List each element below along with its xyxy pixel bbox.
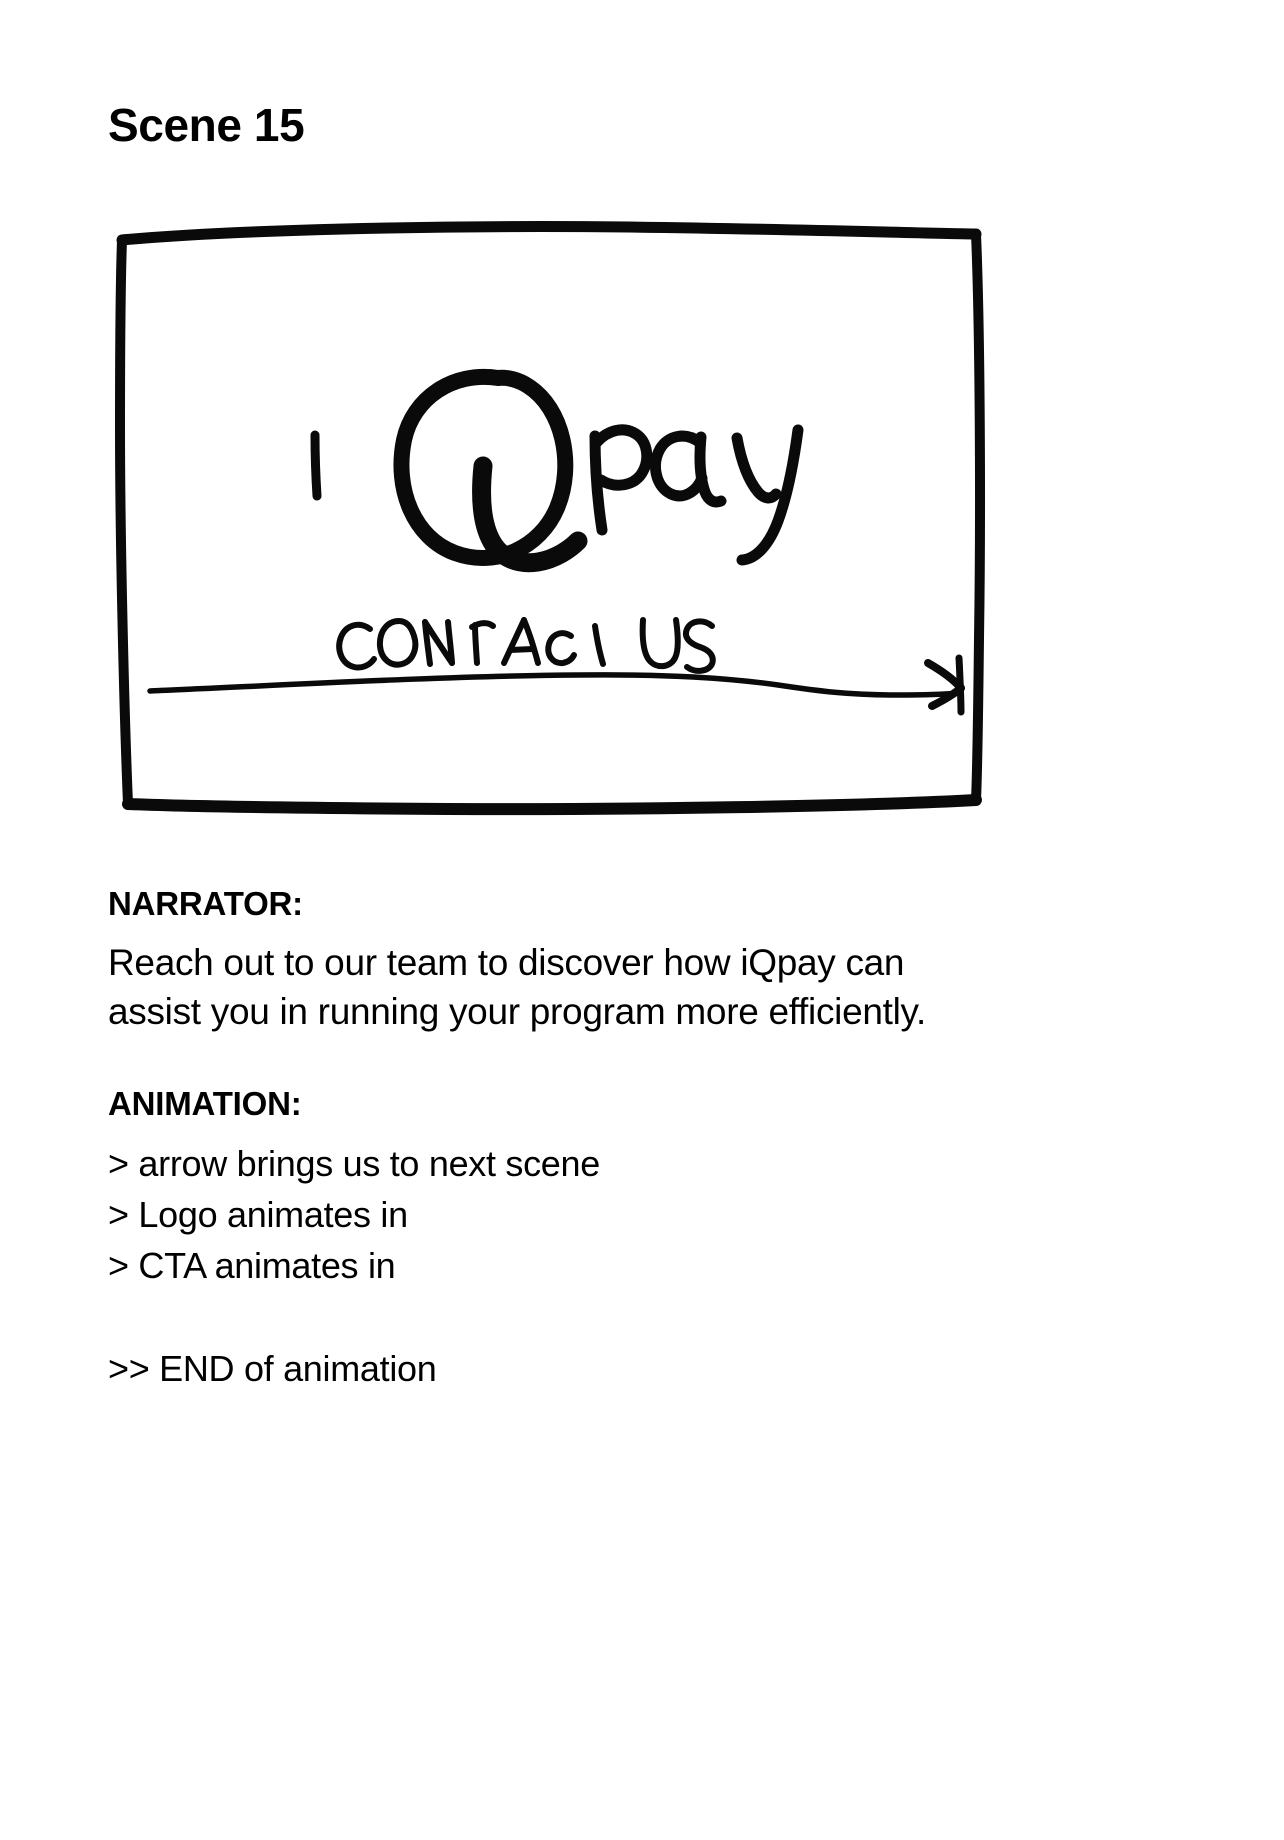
- narrator-text: Reach out to our team to discover how iQ…: [108, 938, 998, 1036]
- page-title: Scene 15: [108, 100, 304, 151]
- sketch-logo-letter-i: [315, 435, 317, 496]
- sketch-logo-text-pay: [595, 430, 798, 560]
- list-item: > arrow brings us to next scene: [108, 1138, 1008, 1189]
- animation-label: ANIMATION:: [108, 1084, 1008, 1124]
- storyboard-frame: [108, 208, 992, 840]
- storyboard-page: Scene 15: [0, 0, 1284, 1840]
- list-item: > CTA animates in: [108, 1240, 1008, 1291]
- sketch-cta-text: [339, 620, 713, 671]
- sketch-logo-letter-q: [401, 377, 578, 563]
- narrator-label: NARRATOR:: [108, 884, 1008, 924]
- end-of-animation-note: >> END of animation: [108, 1343, 1008, 1394]
- script-block: NARRATOR: Reach out to our team to disco…: [108, 884, 1008, 1394]
- storyboard-sketch: [108, 208, 992, 840]
- animation-list: > arrow brings us to next scene > Logo a…: [108, 1138, 1008, 1291]
- sketch-arrow-head: [928, 658, 961, 712]
- list-item: > Logo animates in: [108, 1189, 1008, 1240]
- sketch-underline: [150, 675, 960, 695]
